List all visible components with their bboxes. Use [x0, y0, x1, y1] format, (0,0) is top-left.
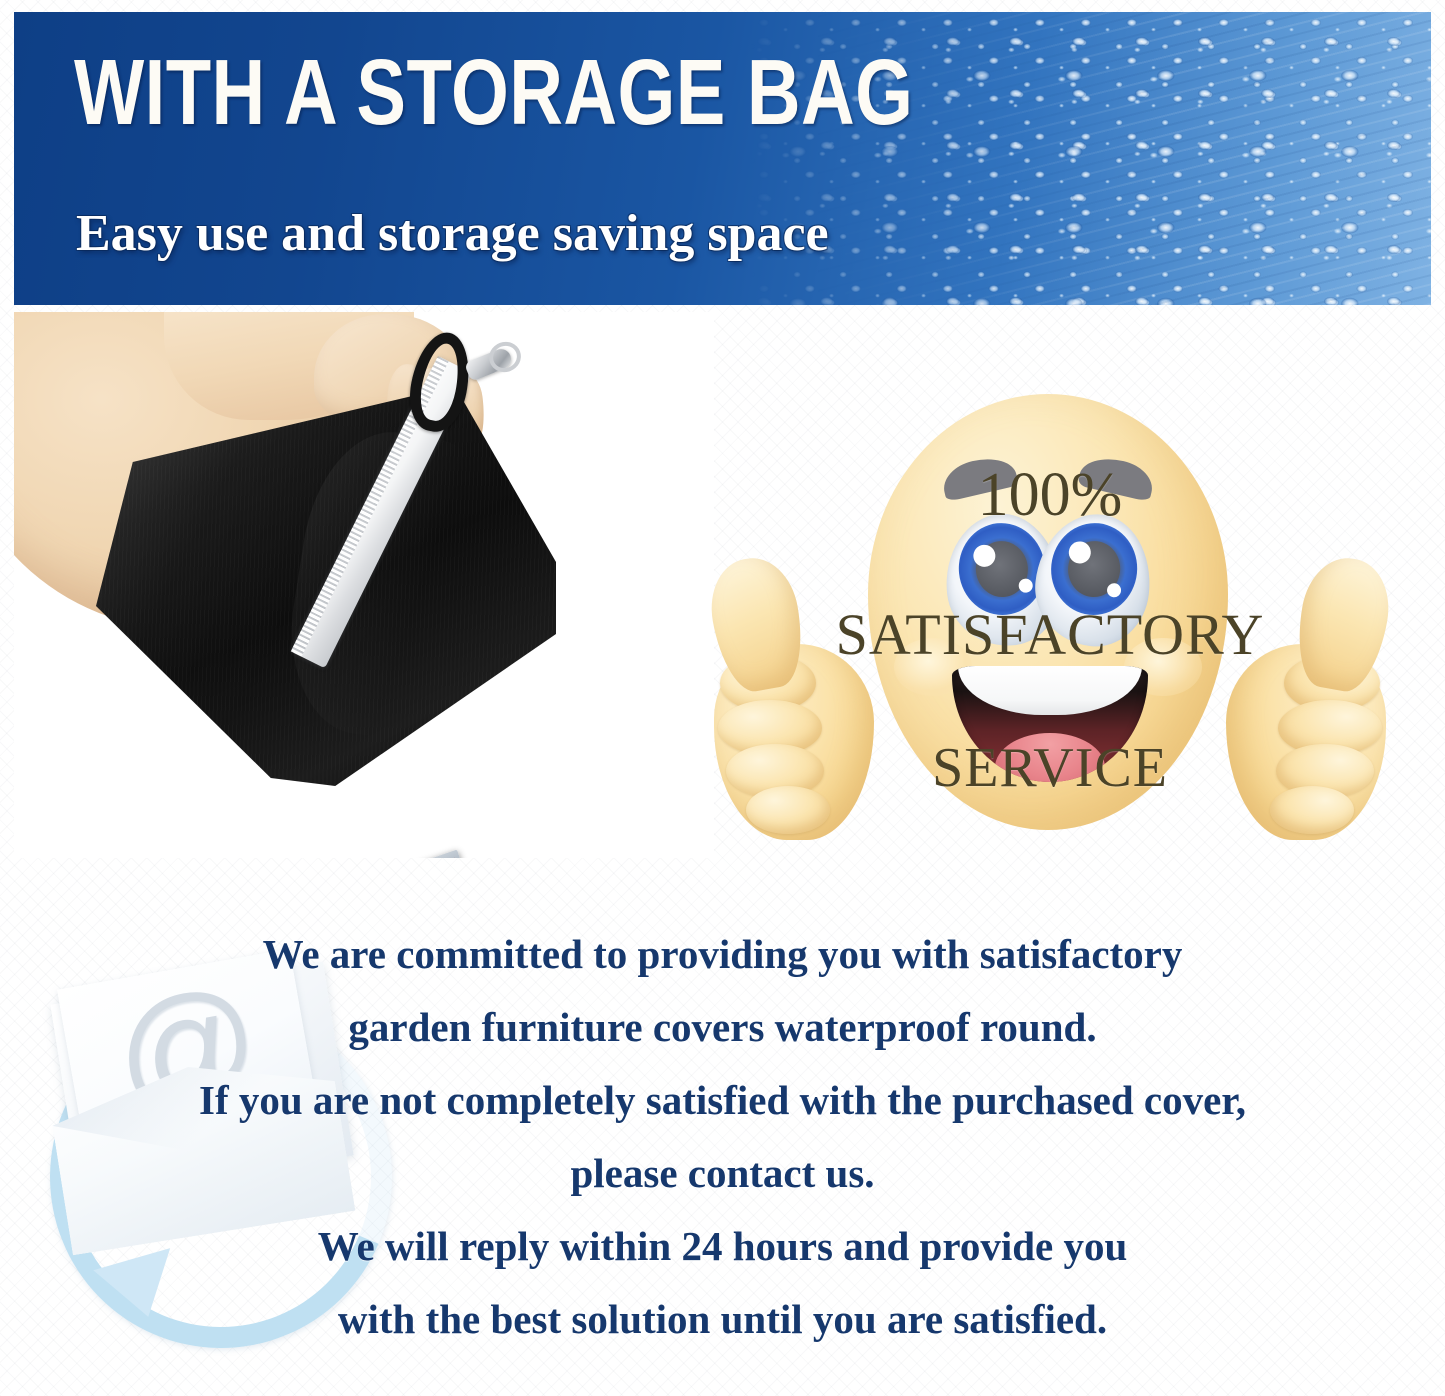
iris — [1047, 519, 1142, 619]
copy-line: We will reply within 24 hours and provid… — [0, 1210, 1445, 1283]
banner-subtitle: Easy use and storage saving space — [76, 208, 829, 260]
eye-highlight — [1106, 583, 1121, 598]
thumbs-up-left-icon — [704, 558, 894, 843]
product-photo — [14, 312, 714, 858]
copy-line: with the best solution until you are sat… — [0, 1283, 1445, 1356]
satisfaction-smiley-graphic: 100% SATISFACTORY SERVICE — [700, 390, 1400, 860]
knuckle — [746, 786, 830, 834]
service-copy-block: We are committed to providing you with s… — [0, 918, 1445, 1356]
header-banner: WITH A STORAGE BAG Easy use and storage … — [14, 12, 1431, 305]
product-label — [388, 849, 497, 858]
knuckle — [1270, 786, 1354, 834]
eye-highlight — [1018, 578, 1033, 593]
copy-line: We are committed to providing you with s… — [0, 918, 1445, 991]
product-feature-image: WITH A STORAGE BAG Easy use and storage … — [0, 0, 1445, 1396]
label-product-thumbnail — [388, 849, 487, 858]
thumbs-up-right-icon — [1206, 558, 1396, 843]
label-accent-red — [435, 857, 461, 858]
tongue — [995, 733, 1105, 782]
copy-line: garden furniture covers waterproof round… — [0, 991, 1445, 1064]
eyebrow-left — [939, 452, 1019, 502]
teeth — [958, 666, 1142, 715]
copy-line: please contact us. — [0, 1137, 1445, 1210]
banner-title: WITH A STORAGE BAG — [74, 46, 913, 139]
eye-right — [1029, 508, 1156, 651]
eyebrow-right — [1077, 452, 1157, 502]
smiley-face — [868, 394, 1228, 830]
smiling-mouth — [952, 666, 1148, 782]
copy-line: If you are not completely satisfied with… — [0, 1064, 1445, 1137]
iris — [954, 519, 1049, 619]
